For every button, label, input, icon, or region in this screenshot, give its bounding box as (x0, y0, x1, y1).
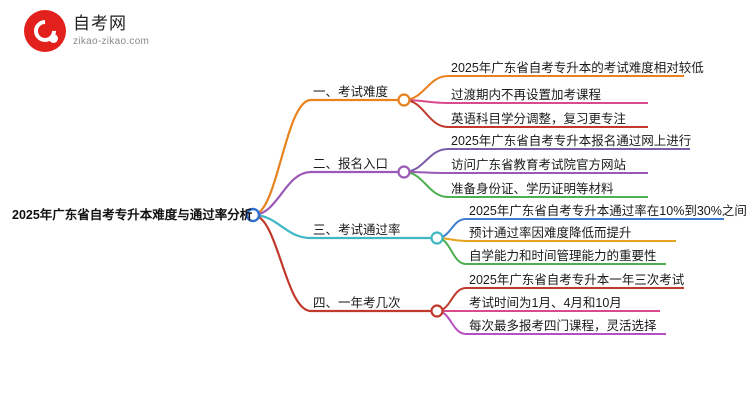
leaf-label-1-3[interactable]: 英语科目学分调整，复习更专注 (451, 113, 626, 127)
logo-subtitle: zikao-zikao.com (73, 37, 149, 47)
root-node-label[interactable]: 2025年广东省自考专升本难度与通过率分析 (12, 209, 252, 223)
logo-text-group: 自考网 zikao-zikao.com (73, 15, 149, 47)
leaf-label-4-2[interactable]: 考试时间为1月、4月和10月 (469, 297, 622, 311)
connector-b2-leaf-3 (404, 172, 448, 197)
leaf-label-1-2[interactable]: 过渡期内不再设置加考课程 (451, 89, 601, 103)
leaf-label-2-3[interactable]: 准备身份证、学历证明等材料 (451, 183, 614, 197)
branch-label-3[interactable]: 三、考试通过率 (313, 224, 401, 238)
connector-b1-leaf-3 (404, 100, 448, 127)
branch-label-2[interactable]: 二、报名入口 (313, 158, 388, 172)
site-logo[interactable]: 自考网 zikao-zikao.com (24, 10, 149, 52)
connector-b2-leaf-1 (404, 149, 448, 172)
circle-c-logo-icon (24, 10, 66, 52)
leaf-label-1-1[interactable]: 2025年广东省自考专升本的考试难度相对较低 (451, 62, 704, 76)
branch-node-marker-3[interactable] (432, 233, 443, 244)
leaf-label-3-2[interactable]: 预计通过率因难度降低而提升 (469, 227, 632, 241)
logo-title: 自考网 (73, 15, 149, 32)
branch-node-marker-1[interactable] (399, 95, 410, 106)
connector-root-branch-4 (253, 215, 311, 311)
branch-node-marker-2[interactable] (399, 167, 410, 178)
leaf-label-2-2[interactable]: 访问广东省教育考试院官方网站 (451, 159, 626, 173)
branch-label-1[interactable]: 一、考试难度 (313, 86, 388, 100)
leaf-label-3-3[interactable]: 自学能力和时间管理能力的重要性 (469, 250, 657, 264)
leaf-label-4-3[interactable]: 每次最多报考四门课程，灵活选择 (469, 320, 657, 334)
branch-node-marker-4[interactable] (432, 306, 443, 317)
branch-label-4[interactable]: 四、一年考几次 (313, 297, 401, 311)
leaf-label-2-1[interactable]: 2025年广东省自考专升本报名通过网上进行 (451, 135, 691, 149)
leaf-label-4-1[interactable]: 2025年广东省自考专升本一年三次考试 (469, 274, 684, 288)
leaf-label-3-1[interactable]: 2025年广东省自考专升本通过率在10%到30%之间 (469, 205, 747, 219)
connector-b1-leaf-1 (404, 76, 448, 100)
connector-root-branch-1 (253, 100, 311, 215)
